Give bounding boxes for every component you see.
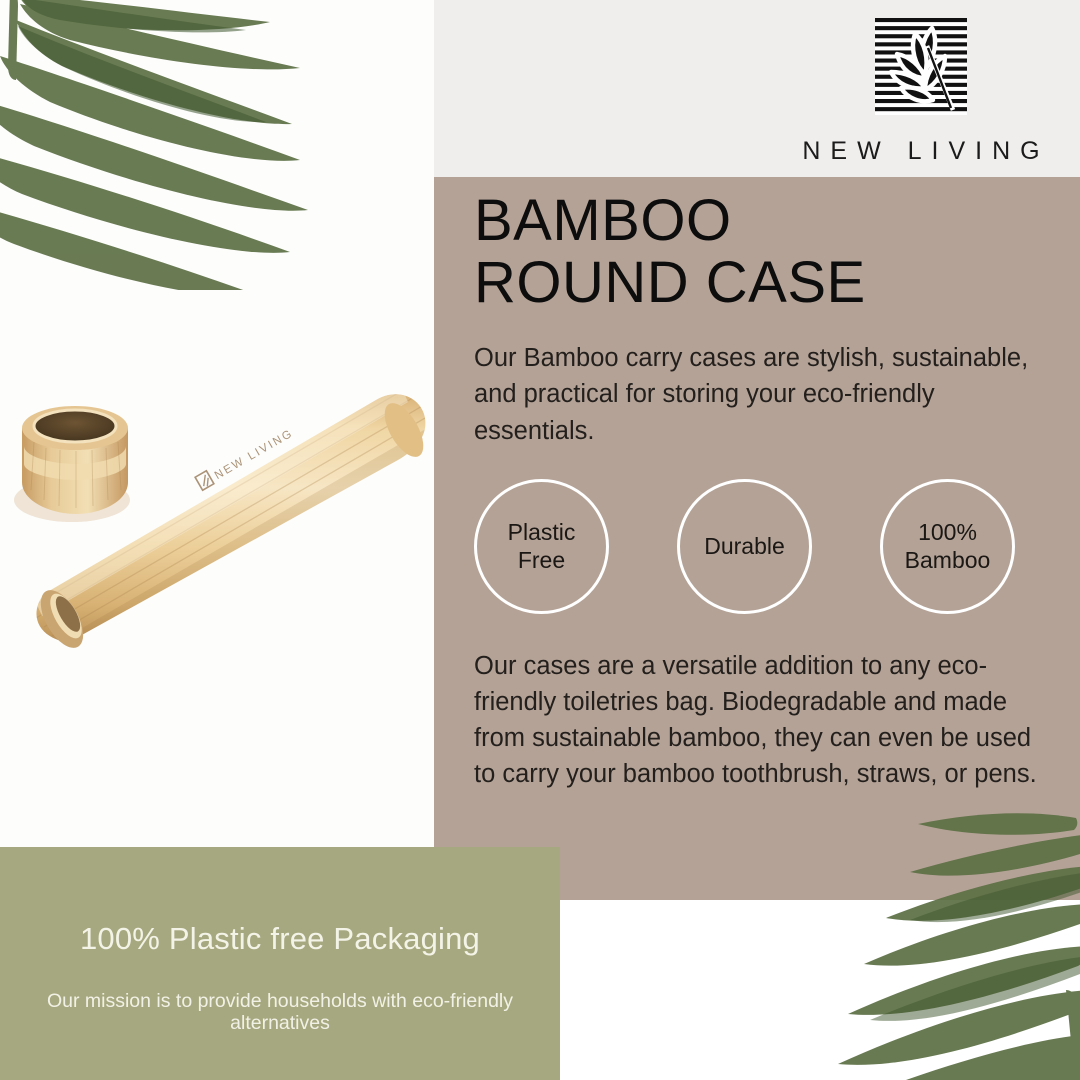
bottom-right-white-panel: [560, 900, 1080, 1080]
banner-subtitle: Our mission is to provide households wit…: [15, 991, 545, 1035]
banner-title: 100% Plastic free Packaging: [80, 921, 480, 957]
bamboo-cap: [14, 406, 130, 522]
brand-wordmark: NEW LIVING: [786, 137, 1056, 166]
brand-logo: NEW LIVING: [786, 18, 1056, 166]
badge-durable: Durable: [677, 479, 812, 614]
product-marketing-image: NEW LIVING: [0, 0, 1080, 1080]
intro-paragraph: Our Bamboo carry cases are stylish, sust…: [474, 340, 1052, 449]
feature-badges: Plastic Free Durable 100% Bamboo: [474, 479, 1054, 614]
badge-plastic-free: Plastic Free: [474, 479, 609, 614]
page-title: BAMBOO ROUND CASE: [474, 190, 1054, 314]
footer-banner-content: 100% Plastic free Packaging Our mission …: [0, 847, 560, 1080]
bamboo-leaf-logo-icon: [875, 18, 967, 115]
bamboo-round-case-photo: NEW LIVING: [0, 350, 440, 660]
product-content: BAMBOO ROUND CASE Our Bamboo carry cases…: [474, 190, 1054, 793]
badge-100-bamboo: 100% Bamboo: [880, 479, 1015, 614]
detail-paragraph: Our cases are a versatile addition to an…: [474, 648, 1052, 793]
